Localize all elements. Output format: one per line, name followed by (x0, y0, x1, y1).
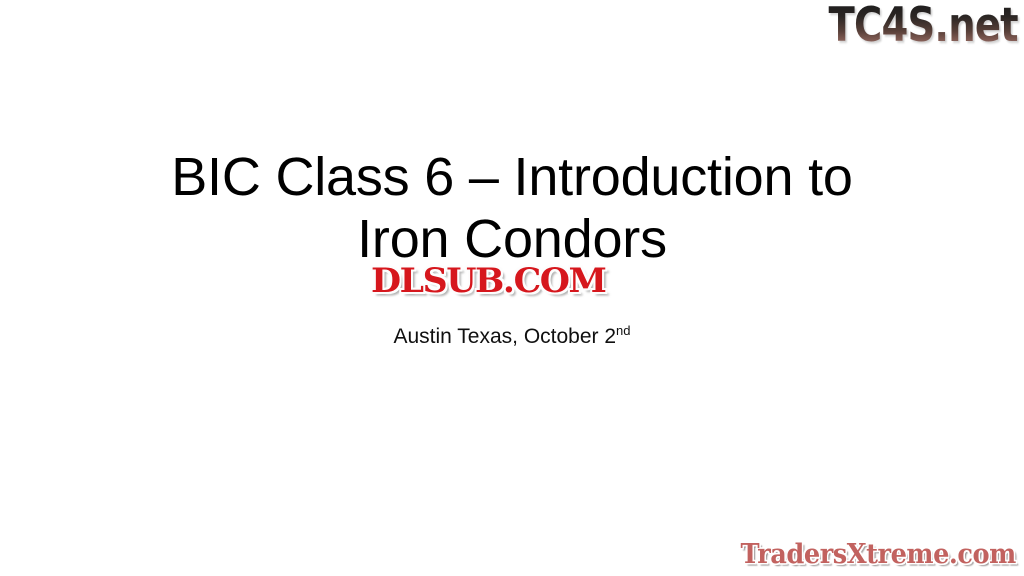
tradersxtreme-logo-text: TradersXtreme.com (741, 541, 1016, 568)
presentation-slide: TC4S.net BIC Class 6 – Introduction to I… (0, 0, 1024, 576)
slide-subtitle-block: Austin Texas, October 2nd (112, 324, 912, 350)
slide-subtitle-main: Austin Texas, October 2 (393, 325, 616, 348)
slide-subtitle: Austin Texas, October 2nd (112, 324, 912, 350)
tradersxtreme-brand-logo[interactable]: TradersXtreme.com (726, 541, 1016, 568)
tc4s-brand-logo[interactable]: TC4S.net (787, 2, 1018, 49)
slide-subtitle-ordinal-suffix: nd (616, 323, 630, 338)
slide-title-block: BIC Class 6 – Introduction to Iron Condo… (112, 146, 912, 270)
slide-title: BIC Class 6 – Introduction to Iron Condo… (112, 146, 912, 270)
tc4s-logo-text: TC4S.net (829, 2, 1018, 49)
dlsub-watermark: DLSUB.COM (371, 264, 601, 298)
dlsub-watermark-text: DLSUB.COM (371, 264, 605, 298)
